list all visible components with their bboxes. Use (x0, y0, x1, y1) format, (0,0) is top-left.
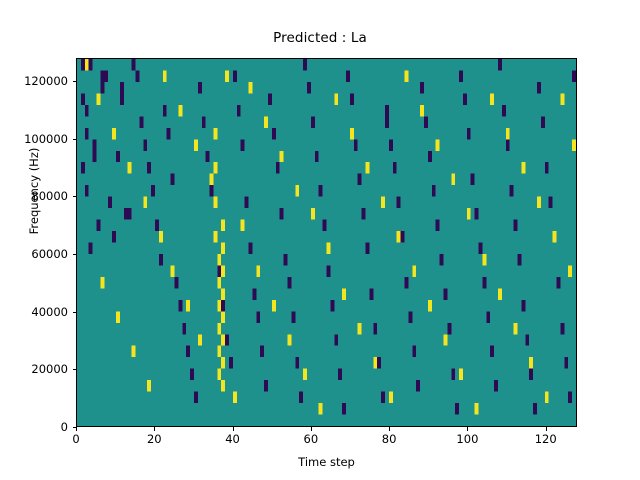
y-tick-label: 60000 (0, 247, 68, 261)
x-tick-label: 100 (456, 432, 478, 446)
x-axis-label: Time step (76, 455, 577, 469)
y-tick-mark (73, 139, 77, 140)
x-tick-mark (546, 427, 547, 431)
y-tick-label: 100000 (0, 132, 68, 146)
x-tick-label: 120 (535, 432, 557, 446)
heatmap-image (77, 59, 576, 426)
x-tick-mark (389, 427, 390, 431)
y-tick-mark (73, 254, 77, 255)
matplotlib-figure: Predicted : La Frequency (Hz) Time step … (0, 0, 640, 480)
x-tick-label: 40 (225, 432, 240, 446)
y-tick-label: 20000 (0, 362, 68, 376)
y-tick-label: 0 (0, 420, 68, 434)
y-tick-mark (73, 369, 77, 370)
x-tick-mark (311, 427, 312, 431)
y-tick-label: 120000 (0, 74, 68, 88)
heatmap-axes[interactable] (76, 58, 577, 427)
x-tick-mark (467, 427, 468, 431)
x-tick-label: 60 (304, 432, 319, 446)
x-tick-mark (233, 427, 234, 431)
y-tick-mark (73, 312, 77, 313)
x-tick-label: 0 (72, 432, 79, 446)
y-tick-mark (73, 81, 77, 82)
page-title: Predicted : La (0, 30, 640, 46)
y-tick-label: 80000 (0, 189, 68, 203)
y-tick-mark (73, 196, 77, 197)
x-tick-label: 80 (382, 432, 397, 446)
y-tick-label: 40000 (0, 305, 68, 319)
x-tick-mark (76, 427, 77, 431)
x-tick-label: 20 (147, 432, 162, 446)
x-tick-mark (154, 427, 155, 431)
